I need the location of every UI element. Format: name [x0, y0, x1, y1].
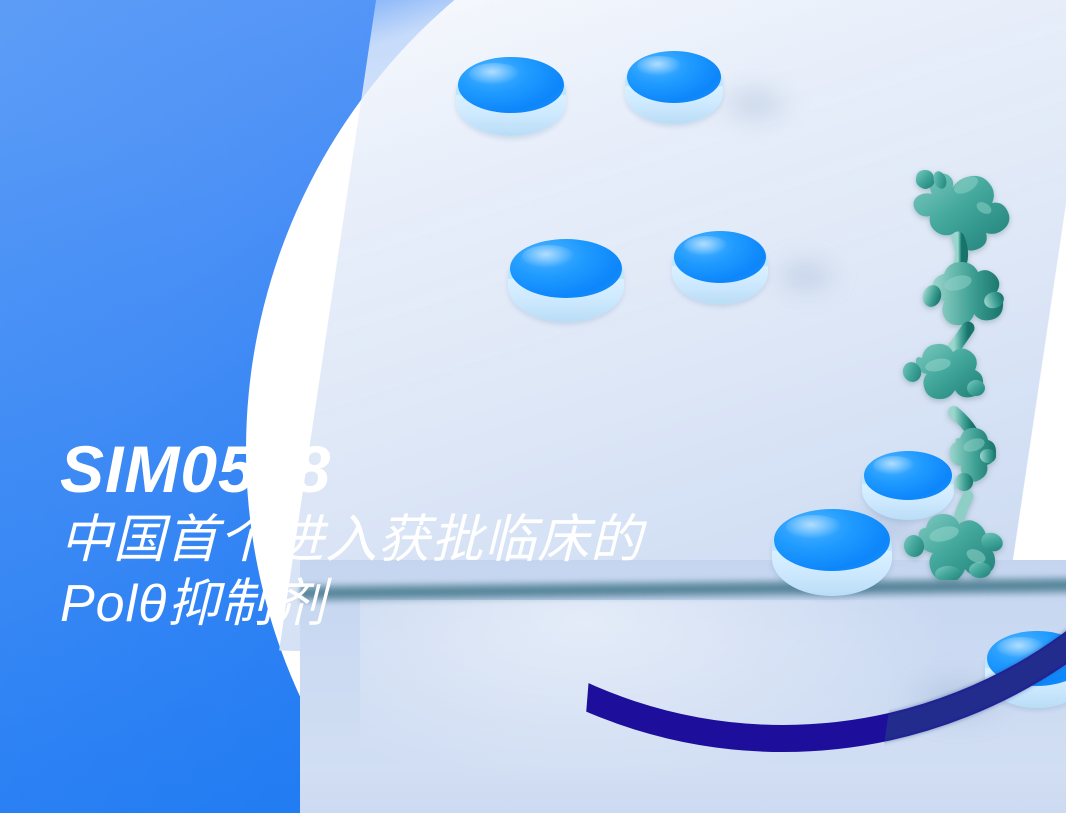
- subtitle-line-2: Polθ抑制剂: [60, 573, 860, 636]
- poster-canvas: SIM0508 中国首个进入获批临床的 Polθ抑制剂: [0, 0, 1066, 813]
- page-title: SIM0508: [60, 436, 860, 503]
- headline-block: SIM0508 中国首个进入获批临床的 Polθ抑制剂: [60, 436, 860, 636]
- navy-arc-group: [0, 0, 1066, 813]
- subtitle-line-1: 中国首个进入获批临床的: [60, 509, 860, 572]
- page-subtitle: 中国首个进入获批临床的 Polθ抑制剂: [60, 509, 860, 636]
